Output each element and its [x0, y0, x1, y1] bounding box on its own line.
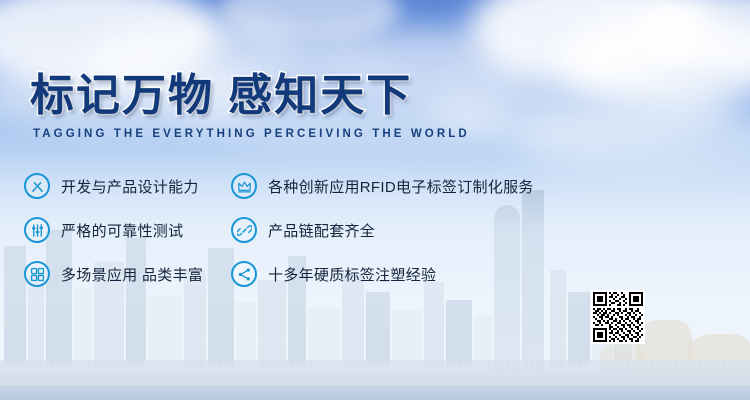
feature-column-left: 开发与产品设计能力 严格的可靠性测试 — [24, 168, 239, 300]
feature-label: 开发与产品设计能力 — [61, 176, 199, 197]
feature-item-supply-chain[interactable]: 产品链配套齐全 — [231, 212, 701, 248]
feature-item-development[interactable]: 开发与产品设计能力 — [24, 168, 239, 204]
feature-item-reliability-test[interactable]: 严格的可靠性测试 — [24, 212, 239, 248]
feature-item-rfid-customization[interactable]: 各种创新应用RFID电子标签订制化服务 — [231, 168, 701, 204]
crown-icon — [231, 173, 257, 199]
feature-item-multi-scenario[interactable]: 多场景应用 品类丰富 — [24, 256, 239, 292]
feature-label: 产品链配套齐全 — [268, 220, 375, 241]
feature-item-injection-experience[interactable]: 十多年硬质标签注塑经验 — [231, 256, 701, 292]
feature-label: 十多年硬质标签注塑经验 — [268, 264, 436, 285]
sliders-icon — [24, 217, 50, 243]
link-icon — [231, 217, 257, 243]
feature-column-right: 各种创新应用RFID电子标签订制化服务 产品链配套齐全 — [231, 168, 701, 300]
page-subtitle: TAGGING THE EVERYTHING PERCEIVING THE WO… — [33, 128, 470, 140]
share-icon — [231, 261, 257, 287]
title-block: 标记万物 感知天下 TAGGING THE EVERYTHING PERCEIV… — [30, 74, 470, 140]
grid-icon — [24, 261, 50, 287]
feature-label: 各种创新应用RFID电子标签订制化服务 — [268, 176, 534, 197]
promotional-banner: 标记万物 感知天下 TAGGING THE EVERYTHING PERCEIV… — [0, 0, 750, 400]
feature-label: 多场景应用 品类丰富 — [61, 264, 203, 285]
feature-label: 严格的可靠性测试 — [61, 220, 183, 241]
qr-code[interactable] — [591, 290, 645, 344]
tools-icon — [24, 173, 50, 199]
page-title: 标记万物 感知天下 — [30, 74, 470, 118]
